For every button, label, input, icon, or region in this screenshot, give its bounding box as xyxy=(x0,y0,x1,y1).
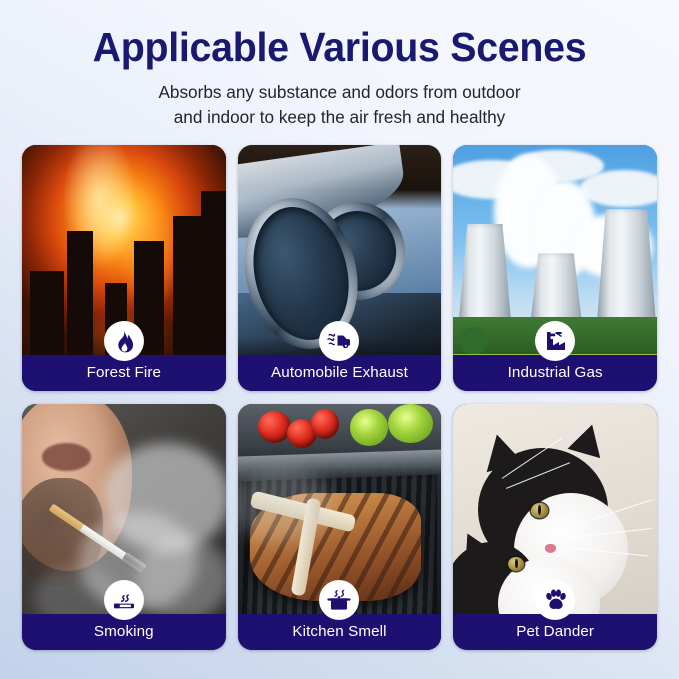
cooking-pot-icon xyxy=(319,580,359,620)
scene-card-automobile-exhaust[interactable]: Automobile Exhaust xyxy=(238,145,442,391)
factory-icon xyxy=(535,321,575,361)
scene-card-forest-fire[interactable]: Forest Fire xyxy=(22,145,226,391)
card-label: Pet Dander xyxy=(516,624,594,640)
scene-card-kitchen-smell[interactable]: Kitchen Smell xyxy=(238,404,442,650)
card-label: Kitchen Smell xyxy=(292,624,386,640)
page-subtitle: Absorbs any substance and odors from out… xyxy=(0,80,679,129)
scene-card-pet-dander[interactable]: Pet Dander xyxy=(453,404,657,650)
paw-print-icon xyxy=(535,580,575,620)
card-label: Industrial Gas xyxy=(508,365,603,381)
cat-eye xyxy=(531,503,548,518)
lime-half xyxy=(350,409,389,446)
scene-card-grid: Forest Fire Automobile Exhaust xyxy=(22,145,657,650)
flame-icon xyxy=(104,321,144,361)
cat-eye xyxy=(508,557,524,571)
scene-card-industrial-gas[interactable]: Industrial Gas xyxy=(453,145,657,391)
man-mouth xyxy=(42,443,91,470)
page-title: Applicable Various Scenes xyxy=(14,25,666,69)
subtitle-line-2: and indoor to keep the air fresh and hea… xyxy=(0,105,679,129)
sky-cloud xyxy=(580,170,657,207)
smoke-cloud xyxy=(136,537,226,621)
card-label: Smoking xyxy=(94,624,154,640)
cigarette-icon xyxy=(104,580,144,620)
card-label: Automobile Exhaust xyxy=(271,365,408,381)
card-label: Forest Fire xyxy=(87,365,162,381)
cherry-tomato xyxy=(258,411,291,443)
cherry-tomato xyxy=(311,409,340,439)
page-header: Applicable Various Scenes Absorbs any su… xyxy=(0,0,679,129)
scene-card-smoking[interactable]: Smoking xyxy=(22,404,226,650)
subtitle-line-1: Absorbs any substance and odors from out… xyxy=(0,80,679,104)
exhaust-icon xyxy=(319,321,359,361)
cat-ear xyxy=(568,420,609,458)
